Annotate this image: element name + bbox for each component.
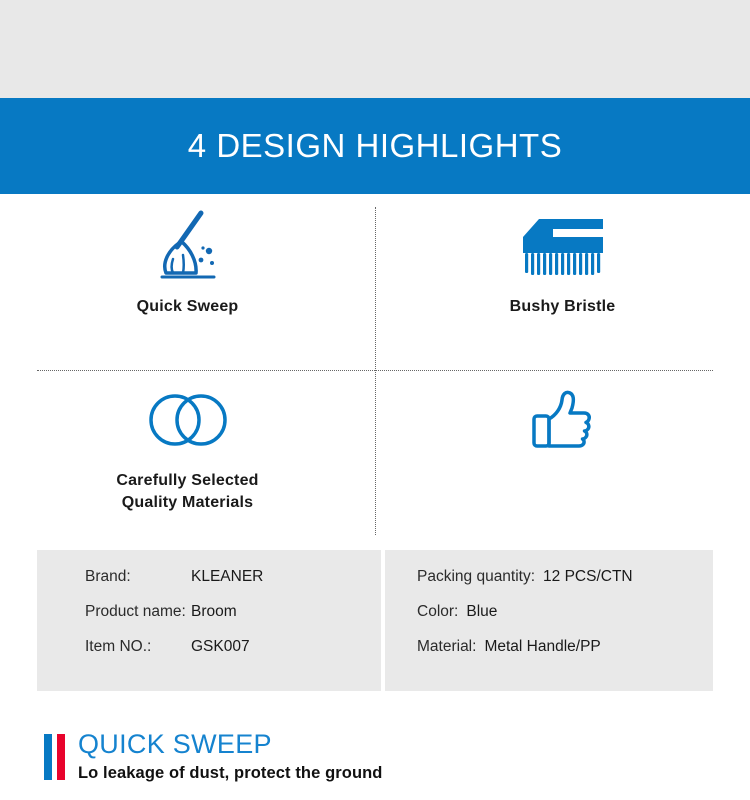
features-grid: Quick Sweep: [0, 194, 750, 542]
thumbs-up-icon: [526, 368, 600, 466]
page-title: 4 DESIGN HIGHLIGHTS: [188, 127, 562, 165]
header-banner: 4 DESIGN HIGHLIGHTS: [0, 98, 750, 194]
feature-label-line1: Carefully Selected: [116, 470, 258, 492]
spec-key: Product name:: [85, 603, 191, 621]
spec-row: Packing quantity: 12 PCS/CTN: [417, 568, 713, 603]
brand-bars: [44, 731, 65, 780]
feature-label: Carefully Selected Quality Materials: [116, 470, 258, 513]
brand-bar-blue: [44, 734, 52, 780]
footer-text: QUICK SWEEP Lo leakage of dust, protect …: [78, 731, 382, 782]
spec-value: GSK007: [191, 638, 250, 656]
spec-row: Brand: KLEANER: [85, 568, 381, 603]
spec-row: Color: Blue: [417, 603, 713, 638]
spec-key: Item NO.:: [85, 638, 191, 656]
brand-bar-red: [57, 734, 65, 780]
spec-panel-right: Packing quantity: 12 PCS/CTN Color: Blue…: [385, 550, 713, 691]
brand-name: QUICK SWEEP: [78, 731, 382, 758]
spec-row: Item NO.: GSK007: [85, 638, 381, 673]
top-gray-strip: [0, 0, 750, 98]
feature-label: Bushy Bristle: [510, 296, 616, 318]
spec-value: Metal Handle/PP: [484, 638, 600, 656]
feature-label-line2: Quality Materials: [116, 492, 258, 514]
spec-row: Product name: Broom: [85, 603, 381, 638]
feature-label: Quick Sweep: [137, 296, 239, 318]
broom-icon: [152, 194, 224, 292]
spec-panels: Brand: KLEANER Product name: Broom Item …: [37, 550, 713, 691]
footer-branding: QUICK SWEEP Lo leakage of dust, protect …: [44, 731, 382, 782]
feature-bushy-bristle: Bushy Bristle: [375, 194, 750, 368]
spec-row: Material: Metal Handle/PP: [417, 638, 713, 673]
spec-key: Material:: [417, 638, 476, 656]
feature-quick-sweep: Quick Sweep: [0, 194, 375, 368]
feature-thumbs-up: [375, 368, 750, 542]
spec-value: Broom: [191, 603, 237, 621]
spec-key: Packing quantity:: [417, 568, 535, 586]
brand-tagline: Lo leakage of dust, protect the ground: [78, 765, 382, 782]
overlapping-circles-icon: [142, 368, 234, 466]
spec-value: 12 PCS/CTN: [543, 568, 633, 586]
scrub-brush-icon: [515, 194, 611, 292]
spec-value: Blue: [466, 603, 497, 621]
spec-key: Color:: [417, 603, 458, 621]
spec-value: KLEANER: [191, 568, 263, 586]
feature-quality-materials: Carefully Selected Quality Materials: [0, 368, 375, 542]
spec-panel-left: Brand: KLEANER Product name: Broom Item …: [37, 550, 381, 691]
spec-key: Brand:: [85, 568, 191, 586]
